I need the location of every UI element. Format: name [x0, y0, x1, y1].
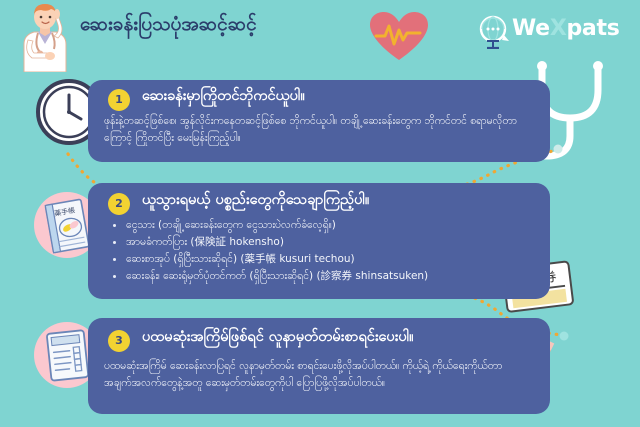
step-title-3: ပထမဆုံးအကြိမ်ဖြစ်ရင် လူနာမှတ်တမ်းစာရင်းပ… — [142, 328, 538, 347]
list-item: ငွေသား (တချို့ ဆေးခန်းတွေက ငွေသားပဲလက်ခံ… — [110, 217, 540, 234]
step-panel-3: 3 ပထမဆုံးအကြိမ်ဖြစ်ရင် လူနာမှတ်တမ်းစာရင်… — [88, 318, 550, 414]
step-title-1: ဆေးခန်းမှာကြိုတင်ဘိုကင်ယူပါ။ — [142, 87, 538, 106]
logo-we: We — [512, 16, 550, 41]
step-number-badge-2: 2 — [108, 193, 130, 215]
logo-wordmark: WeXpats — [512, 16, 620, 41]
step-panel-1: 1 ဆေးခန်းမှာကြိုတင်ဘိုကင်ယူပါ။ ဖုန်းနဲ့တ… — [88, 80, 550, 162]
heart-pulse-icon — [368, 10, 430, 62]
step-title-2: ယူသွားရမယ့် ပစ္စည်းတွေကိုသေချာကြည့်ပါ။ — [142, 191, 538, 210]
page-title: ဆေးခန်းပြသပုံအဆင့်ဆင့် — [80, 12, 360, 38]
step-panel-2: 2 ယူသွားရမယ့် ပစ္စည်းတွေကိုသေချာကြည့်ပါ။… — [88, 183, 550, 299]
step-number-badge-1: 1 — [108, 89, 130, 111]
doctor-illustration — [14, 2, 76, 72]
step-2-bullet-list: ငွေသား (တချို့ ဆေးခန်းတွေက ငွေသားပဲလက်ခံ… — [110, 217, 540, 285]
logo-pats: pats — [566, 16, 619, 41]
header: ဆေးခန်းပြသပုံအဆင့်ဆင့် WeXpats — [0, 0, 640, 72]
step-body-1: ဖုန်းနဲ့တဆင့်ဖြစ်စေ၊ အွန်လိုင်းကနေတဆင့်ဖ… — [104, 113, 536, 148]
list-item: အာမခံကတ်ပြား (保険証 hokensho) — [110, 234, 540, 251]
step-body-3: ပထမဆုံးအကြိမ် ဆေးခန်းလာပြရင် လူနာမှတ်တမ်… — [104, 358, 536, 393]
list-item: ဆေးစာအုပ် (ရှိပြီးသားဆိုရင်) (薬手帳 kusuri… — [110, 251, 540, 268]
logo-x: X — [550, 16, 567, 41]
step-number-badge-3: 3 — [108, 330, 130, 352]
list-item: ဆေးခန်း၊ ဆေးရုံမှတ်ပုံတင်ကတ် (ရှိပြီးသား… — [110, 268, 540, 285]
infographic-canvas: ဆေးခန်းပြသပုံအဆင့်ဆင့် WeXpats — [0, 0, 640, 427]
wexpats-logo: WeXpats — [478, 14, 626, 48]
